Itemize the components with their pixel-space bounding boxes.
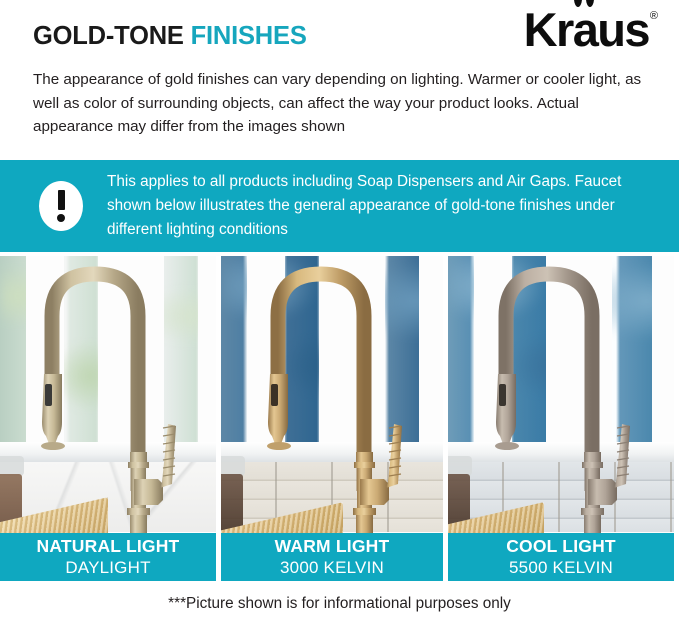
logo-letter-a: a bbox=[573, 3, 598, 56]
footnote: ***Picture shown is for informational pu… bbox=[0, 595, 679, 613]
logo-text-post: us bbox=[597, 3, 649, 56]
gold-tone-finishes-infographic: GOLD-TONE FINISHES Kraus® The appearance… bbox=[0, 0, 679, 629]
exclamation-dot bbox=[57, 214, 65, 222]
page-title: GOLD-TONE FINISHES bbox=[33, 22, 307, 51]
notice-banner: This applies to all products including S… bbox=[0, 160, 679, 252]
exclamation-bar bbox=[58, 190, 65, 210]
label-subtitle: 5500 KELVIN bbox=[509, 557, 613, 579]
logo-text-pre: Kr bbox=[524, 3, 573, 56]
label-warm-light: WARM LIGHT 3000 KELVIN bbox=[221, 533, 443, 581]
label-title: NATURAL LIGHT bbox=[37, 536, 180, 557]
page-title-accent: FINISHES bbox=[191, 22, 307, 50]
label-natural-light: NATURAL LIGHT DAYLIGHT bbox=[0, 533, 216, 581]
label-title: WARM LIGHT bbox=[275, 536, 390, 557]
exclamation-icon bbox=[39, 181, 83, 231]
label-subtitle: DAYLIGHT bbox=[65, 557, 150, 579]
label-title: COOL LIGHT bbox=[506, 536, 616, 557]
registered-trademark-icon: ® bbox=[650, 10, 658, 22]
header: GOLD-TONE FINISHES Kraus® The appearance… bbox=[0, 0, 679, 160]
panel-label-row: NATURAL LIGHT DAYLIGHT WARM LIGHT 3000 K… bbox=[0, 533, 679, 581]
intro-paragraph: The appearance of gold finishes can vary… bbox=[33, 68, 657, 139]
notice-text: This applies to all products including S… bbox=[107, 170, 652, 242]
page-title-primary: GOLD-TONE bbox=[33, 22, 184, 50]
kraus-logo: Kraus® bbox=[524, 6, 657, 53]
label-cool-light: COOL LIGHT 5500 KELVIN bbox=[448, 533, 674, 581]
logo-umlaut-a: a bbox=[573, 6, 598, 53]
label-subtitle: 3000 KELVIN bbox=[280, 557, 384, 579]
